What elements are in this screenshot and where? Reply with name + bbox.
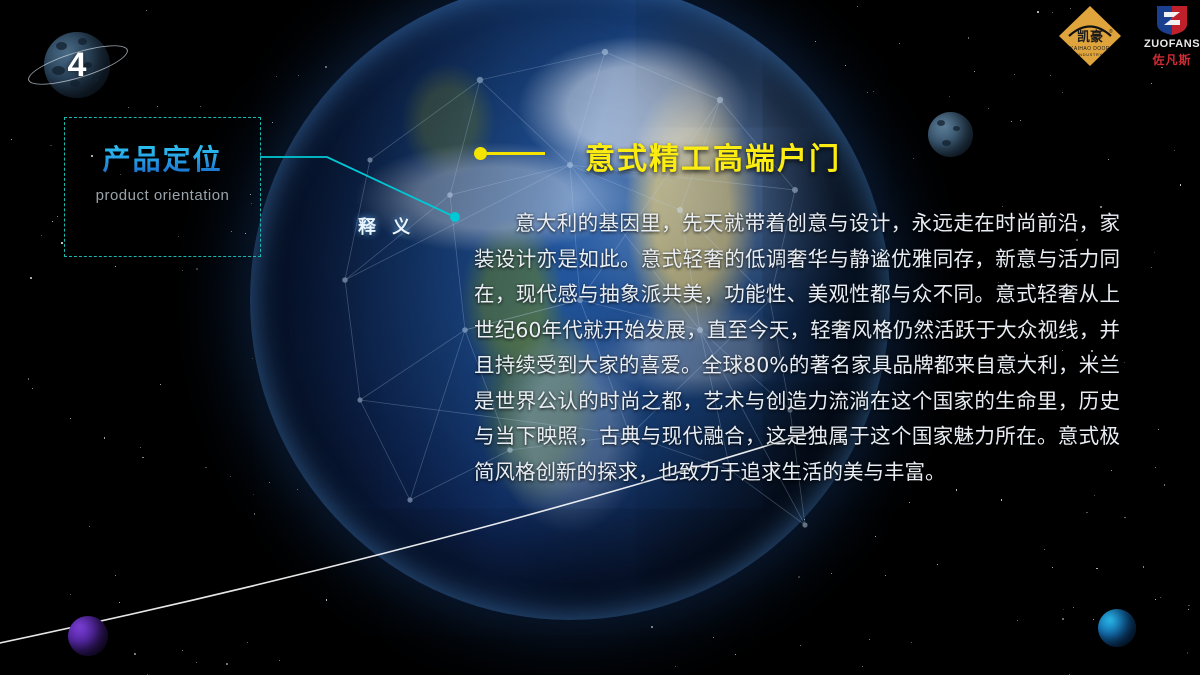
star (368, 536, 370, 538)
star (61, 242, 63, 244)
star (1155, 467, 1156, 468)
star (862, 666, 863, 667)
star (1050, 75, 1051, 76)
star (800, 645, 801, 646)
star (1180, 184, 1182, 186)
star (146, 10, 147, 11)
star (325, 66, 327, 68)
star (974, 71, 975, 72)
star (1073, 607, 1075, 609)
star (254, 513, 256, 515)
star (182, 270, 183, 271)
star (988, 108, 989, 109)
star (885, 575, 886, 576)
star (70, 594, 71, 595)
star (1174, 150, 1175, 151)
star (297, 489, 298, 490)
star (913, 158, 914, 159)
star (104, 437, 106, 439)
star (1037, 11, 1039, 13)
star (633, 600, 634, 601)
grey-moon (928, 112, 973, 157)
star (1017, 620, 1018, 621)
star (1188, 605, 1190, 607)
star (119, 602, 120, 603)
star (968, 37, 970, 39)
star (115, 266, 117, 268)
body-paragraph: 意大利的基因里，先天就带着创意与设计，永远走在时尚前沿，家装设计亦是如此。意式轻… (474, 206, 1120, 490)
star (1052, 12, 1053, 13)
star (57, 216, 58, 217)
star (1151, 267, 1152, 268)
svg-text:凯豪: 凯豪 (1077, 29, 1103, 45)
star (142, 457, 144, 459)
star (160, 384, 161, 385)
star (471, 187, 473, 189)
star (320, 100, 321, 101)
star (226, 663, 228, 665)
star (651, 626, 653, 628)
star (735, 654, 736, 655)
star (1124, 517, 1126, 519)
slide-canvas: 4 产品定位 product orientation 释 义 意式精工高端户门 … (0, 0, 1200, 675)
star (157, 106, 158, 107)
star (50, 145, 52, 147)
star (713, 637, 714, 638)
star (1052, 567, 1053, 568)
star (128, 107, 129, 108)
zuofans-shield-icon (1155, 2, 1189, 36)
star (196, 662, 197, 663)
star (873, 91, 874, 92)
star (869, 639, 870, 640)
star (32, 388, 33, 389)
star (268, 326, 269, 327)
star (857, 6, 858, 7)
svg-text:INDUSTRY: INDUSTRY (1077, 52, 1102, 57)
star (1086, 512, 1088, 514)
star (41, 235, 42, 236)
crater (953, 126, 960, 131)
star (1096, 568, 1098, 570)
star (1124, 362, 1125, 363)
section-title-cn: 产品定位 (64, 138, 261, 178)
star (89, 526, 90, 527)
star (279, 660, 280, 661)
star (1143, 566, 1145, 568)
crater (942, 140, 951, 146)
star (1014, 74, 1015, 75)
star (200, 106, 201, 107)
star (196, 268, 198, 270)
star (1020, 120, 1021, 121)
star (303, 264, 304, 265)
crater (937, 120, 945, 126)
star (937, 564, 938, 565)
zuofans-name: ZUOFANS (1144, 38, 1200, 50)
star (625, 23, 626, 24)
star (1187, 652, 1189, 654)
star (326, 174, 328, 176)
page-title: 意式精工高端户门 (585, 134, 841, 178)
star (1151, 83, 1152, 84)
star (182, 650, 183, 651)
star (1108, 159, 1110, 161)
star (909, 502, 910, 503)
star (1188, 609, 1189, 610)
star (804, 519, 805, 520)
star (1063, 609, 1064, 610)
star (276, 76, 278, 78)
star (301, 394, 302, 395)
heading-bullet-icon (474, 147, 487, 160)
star (70, 418, 71, 419)
star (52, 221, 53, 222)
star (1158, 429, 1160, 431)
star (1044, 549, 1045, 550)
star (1094, 495, 1095, 496)
svg-text:®: ® (1109, 28, 1113, 35)
star (134, 653, 136, 655)
star (298, 75, 299, 76)
star (411, 25, 412, 26)
star (30, 277, 32, 279)
star (845, 65, 846, 66)
star (11, 139, 12, 140)
star (115, 575, 116, 576)
star (230, 476, 231, 477)
star (675, 666, 676, 667)
star (1093, 619, 1094, 620)
star (1011, 121, 1012, 122)
star (831, 573, 832, 574)
section-title-en: product orientation (64, 187, 261, 204)
star (140, 447, 141, 448)
star (326, 599, 328, 601)
star (354, 399, 355, 400)
star (28, 378, 30, 380)
callout-label: 释 义 (358, 213, 415, 239)
kaihao-logo: 凯豪 KAIHAO DOOR INDUSTRY ® (1056, 3, 1124, 69)
star (1062, 92, 1063, 93)
star (911, 642, 912, 643)
star (1164, 484, 1166, 486)
blue-planet (1098, 609, 1136, 647)
slide-number: 4 (44, 32, 110, 98)
star (407, 552, 409, 554)
star (1160, 597, 1161, 598)
star (1154, 252, 1155, 253)
star (815, 41, 816, 42)
star (875, 536, 876, 537)
star (1155, 599, 1156, 600)
heading-rule (487, 152, 545, 155)
star (798, 576, 800, 578)
purple-planet (68, 616, 108, 656)
star (253, 494, 254, 495)
star (867, 92, 868, 93)
star (205, 467, 207, 469)
star (272, 122, 273, 123)
star (949, 96, 950, 97)
zuofans-logo: ZUOFANS 佐凡斯 (1146, 2, 1198, 70)
star (269, 482, 270, 483)
zuofans-name-cn: 佐凡斯 (1152, 51, 1191, 68)
star (1062, 618, 1064, 620)
star (899, 43, 900, 44)
star (247, 642, 248, 643)
star (252, 358, 254, 360)
star (1001, 499, 1003, 501)
